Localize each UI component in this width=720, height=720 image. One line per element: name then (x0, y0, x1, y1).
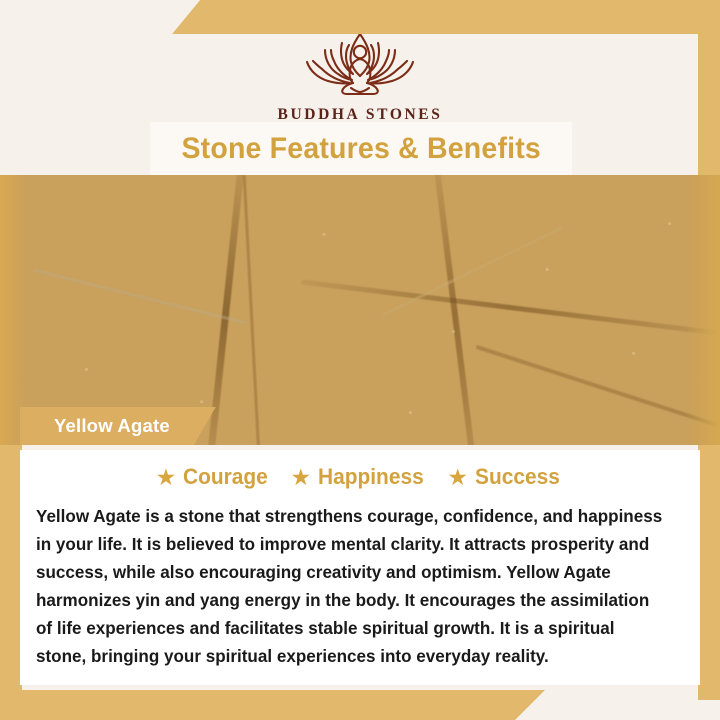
benefit-label: Courage (183, 464, 268, 490)
description-text: Yellow Agate is a stone that strengthens… (36, 502, 665, 670)
stone-image: Yellow Agate (0, 175, 720, 445)
stone-caption-text: Yellow Agate (54, 415, 170, 437)
stone-texture (0, 175, 720, 445)
bottom-gold-accent-band (0, 690, 720, 720)
benefits-list: ★ Courage ★ Happiness ★ Success (36, 464, 684, 490)
page-title: Stone Features & Benefits (181, 132, 541, 166)
stone-left-edge-shade (0, 175, 26, 445)
stone-sparkle-overlay (0, 175, 720, 445)
brand-logo: BUDDHA STONES (0, 26, 720, 124)
stone-right-edge-shade (686, 175, 720, 445)
lotus-meditation-figure-icon (285, 26, 435, 100)
benefit-label: Success (475, 464, 560, 490)
benefit-label: Happiness (318, 464, 424, 490)
benefit-item: ★ Courage (156, 464, 273, 490)
title-banner: Stone Features & Benefits (150, 122, 572, 175)
star-icon: ★ (291, 466, 312, 489)
benefit-item: ★ Success (447, 464, 564, 490)
content-panel: ★ Courage ★ Happiness ★ Success Yellow A… (20, 450, 700, 685)
star-icon: ★ (447, 466, 468, 489)
stone-caption-chip: Yellow Agate (20, 407, 216, 445)
benefit-item: ★ Happiness (291, 464, 430, 490)
left-gold-accent-band (0, 440, 22, 720)
star-icon: ★ (156, 466, 177, 489)
